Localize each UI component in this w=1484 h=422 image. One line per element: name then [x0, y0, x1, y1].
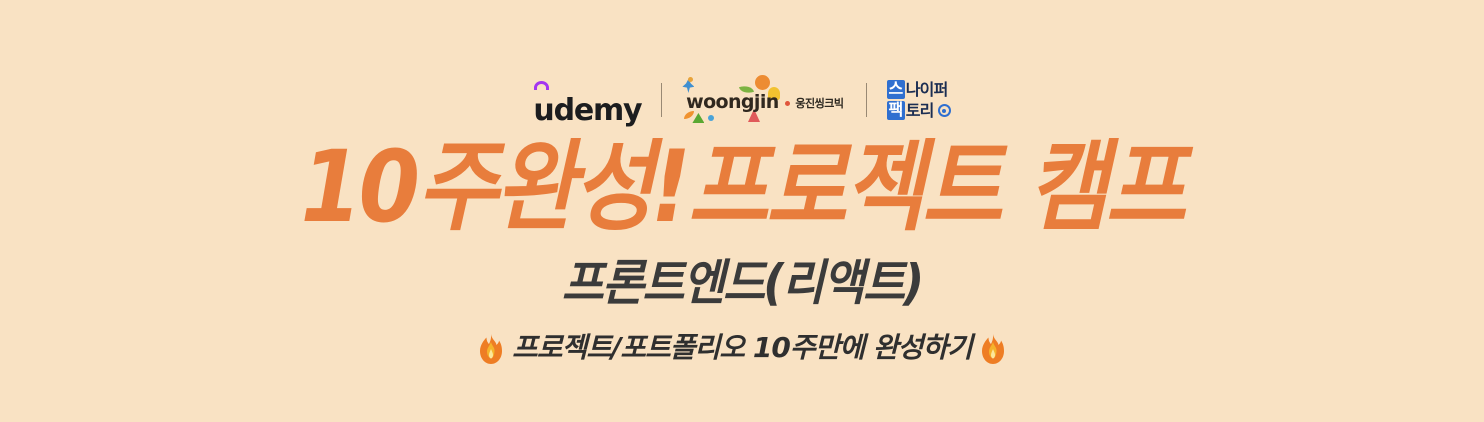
udemy-arc-icon [534, 81, 549, 90]
promo-banner: udemy woongjin 웅진씽크빅 [0, 0, 1484, 422]
woongjin-symbol: woongjin [684, 77, 780, 123]
vertical-divider-icon [661, 83, 662, 117]
fire-icon-left [479, 334, 503, 364]
fire-icon-right [981, 334, 1005, 364]
woongjin-dot-icon [688, 77, 693, 82]
headline: 10주완성!프로젝트 캠프 [0, 136, 1484, 239]
udemy-wordmark: udemy [533, 96, 641, 126]
sniper-factory-logo-mark: 스 나이퍼 팩 토리 [883, 77, 955, 123]
sniper-factory-line-1: 스 나이퍼 [887, 80, 951, 99]
partner-logo-strip: udemy woongjin 웅진씽크빅 [0, 76, 1484, 124]
woongjin-blue-dot-icon [708, 115, 714, 121]
woongjin-korean-name: 웅진씽크빅 [795, 98, 843, 109]
tagline-text: 프로젝트/포트폴리오 10주만에 완성하기 [512, 333, 972, 364]
woongjin-separator-dot-icon [785, 101, 790, 106]
sniper-text-1: 나이퍼 [906, 82, 948, 98]
sniper-text-2: 토리 [906, 103, 934, 119]
sniper-badge-2: 팩 [887, 101, 905, 120]
woongjin-circle-icon [755, 75, 770, 90]
tagline-row: 프로젝트/포트폴리오 10주만에 완성하기 [0, 333, 1484, 364]
woongjin-logo-mark: woongjin 웅진씽크빅 [678, 77, 849, 123]
woongjin-wordmark: woongjin [686, 93, 779, 112]
udemy-logo-mark: udemy [529, 77, 645, 123]
target-icon [938, 104, 951, 117]
vertical-divider-icon-2 [866, 83, 867, 117]
sniper-factory-line-2: 팩 토리 [887, 101, 951, 120]
subtitle: 프론트엔드(리액트) [0, 256, 1484, 310]
sniper-badge-1: 스 [887, 80, 905, 99]
woongjin-sprout-icon [692, 113, 704, 123]
logo-udemy: udemy [529, 77, 645, 123]
logo-sniper-factory: 스 나이퍼 팩 토리 [883, 77, 955, 123]
logo-woongjin: woongjin 웅진씽크빅 [678, 77, 849, 123]
